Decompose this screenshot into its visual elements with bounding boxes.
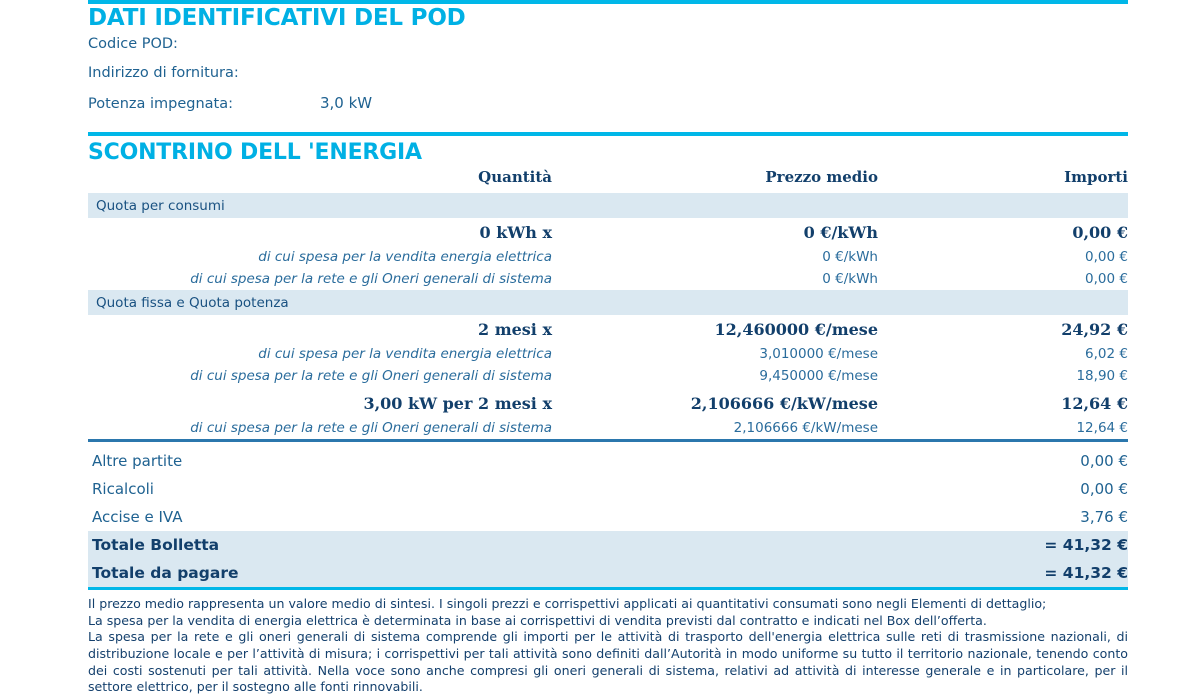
committed-power-label: Potenza impegnata: <box>88 96 320 112</box>
scontrino-title: SCONTRINO DELL 'ENERGIA <box>88 141 1128 164</box>
totals-label: Totale Bolletta <box>88 531 878 559</box>
row-amount: 0,00 € <box>878 218 1128 246</box>
top-cyan-rule <box>88 0 1128 4</box>
table-row: di cui spesa per la rete e gli Oneri gen… <box>88 365 1128 387</box>
row-description: di cui spesa per la vendita energia elet… <box>88 246 552 268</box>
totals-amount: 3,76 € <box>878 503 1128 531</box>
row-quantity: 2 mesi x <box>88 315 552 343</box>
row-price: 2,106666 €/kW/mese <box>552 387 878 417</box>
identification-rows: Codice POD: Indirizzo di fornitura: Pote… <box>88 36 1128 123</box>
totals-row-accise-iva: Accise e IVA 3,76 € <box>88 503 1128 531</box>
row-amount: 12,64 € <box>878 387 1128 417</box>
footer-notes: Il prezzo medio rappresenta un valore me… <box>88 596 1128 696</box>
table-row: 0 kWh x 0 €/kWh 0,00 € <box>88 218 1128 246</box>
table-row: 2 mesi x 12,460000 €/mese 24,92 € <box>88 315 1128 343</box>
section-band-consumi: Quota per consumi <box>88 193 1128 218</box>
totals-label: Accise e IVA <box>88 503 878 531</box>
totals-row-totale-da-pagare: Totale da pagare = 41,32 € <box>88 559 1128 587</box>
row-price: 9,450000 €/mese <box>552 365 878 387</box>
totals-amount: 0,00 € <box>878 447 1128 475</box>
totals-top-rule <box>88 439 1128 442</box>
row-description: di cui spesa per la rete e gli Oneri gen… <box>88 417 552 439</box>
identification-row: Potenza impegnata: 3,0 kW <box>88 94 1128 123</box>
row-price: 3,010000 €/mese <box>552 343 878 365</box>
footer-line-2: La spesa per la vendita di energia elett… <box>88 613 1128 630</box>
row-price: 12,460000 €/mese <box>552 315 878 343</box>
column-header-quantity: Quantità <box>88 168 552 193</box>
table-row: 3,00 kW per 2 mesi x 2,106666 €/kW/mese … <box>88 387 1128 417</box>
row-quantity: 3,00 kW per 2 mesi x <box>88 387 552 417</box>
totals-row-totale-bolletta: Totale Bolletta = 41,32 € <box>88 531 1128 559</box>
section-band-quota-fissa: Quota fissa e Quota potenza <box>88 290 1128 315</box>
totals-bottom-rule <box>88 587 1128 590</box>
row-amount: 6,02 € <box>878 343 1128 365</box>
totals-row-altre-partite: Altre partite 0,00 € <box>88 447 1128 475</box>
pod-code-label: Codice POD: <box>88 36 320 52</box>
scontrino-table: Quantità Prezzo medio Importi Quota per … <box>88 168 1128 439</box>
row-amount: 0,00 € <box>878 268 1128 290</box>
row-quantity: 0 kWh x <box>88 218 552 246</box>
supply-address-label: Indirizzo di fornitura: <box>88 65 320 81</box>
totals-amount: = 41,32 € <box>878 559 1128 587</box>
table-row: di cui spesa per la vendita energia elet… <box>88 343 1128 365</box>
row-price: 0 €/kWh <box>552 246 878 268</box>
row-description: di cui spesa per la rete e gli Oneri gen… <box>88 268 552 290</box>
totals-row-ricalcoli: Ricalcoli 0,00 € <box>88 475 1128 503</box>
bill-page: DATI IDENTIFICATIVI DEL POD Codice POD: … <box>0 0 1200 635</box>
row-description: di cui spesa per la rete e gli Oneri gen… <box>88 365 552 387</box>
section-band-label: Quota per consumi <box>88 193 1128 218</box>
column-header-amount: Importi <box>878 168 1128 193</box>
totals-amount: = 41,32 € <box>878 531 1128 559</box>
table-row: di cui spesa per la vendita energia elet… <box>88 246 1128 268</box>
row-amount: 18,90 € <box>878 365 1128 387</box>
totals-label: Ricalcoli <box>88 475 878 503</box>
row-amount: 0,00 € <box>878 246 1128 268</box>
scontrino-cyan-rule <box>88 132 1128 136</box>
totals-amount: 0,00 € <box>878 475 1128 503</box>
row-amount: 12,64 € <box>878 417 1128 439</box>
table-row: di cui spesa per la rete e gli Oneri gen… <box>88 268 1128 290</box>
row-amount: 24,92 € <box>878 315 1128 343</box>
section-band-label: Quota fissa e Quota potenza <box>88 290 1128 315</box>
totals-label: Altre partite <box>88 447 878 475</box>
row-price: 0 €/kWh <box>552 268 878 290</box>
table-row: di cui spesa per la rete e gli Oneri gen… <box>88 417 1128 439</box>
column-header-price: Prezzo medio <box>552 168 878 193</box>
row-price: 2,106666 €/kW/mese <box>552 417 878 439</box>
row-price: 0 €/kWh <box>552 218 878 246</box>
identification-row: Codice POD: <box>88 36 1128 65</box>
row-description: di cui spesa per la vendita energia elet… <box>88 343 552 365</box>
table-header-row: Quantità Prezzo medio Importi <box>88 168 1128 193</box>
footer-line-1: Il prezzo medio rappresenta un valore me… <box>88 596 1128 613</box>
identification-row: Indirizzo di fornitura: <box>88 65 1128 94</box>
totals-table: Altre partite 0,00 € Ricalcoli 0,00 € Ac… <box>88 447 1128 587</box>
footer-line-3: La spesa per la rete e gli oneri general… <box>88 629 1128 695</box>
committed-power-value: 3,0 kW <box>320 94 372 112</box>
totals-label: Totale da pagare <box>88 559 878 587</box>
bill-content: DATI IDENTIFICATIVI DEL POD Codice POD: … <box>88 0 1128 696</box>
identification-title: DATI IDENTIFICATIVI DEL POD <box>88 6 1128 30</box>
